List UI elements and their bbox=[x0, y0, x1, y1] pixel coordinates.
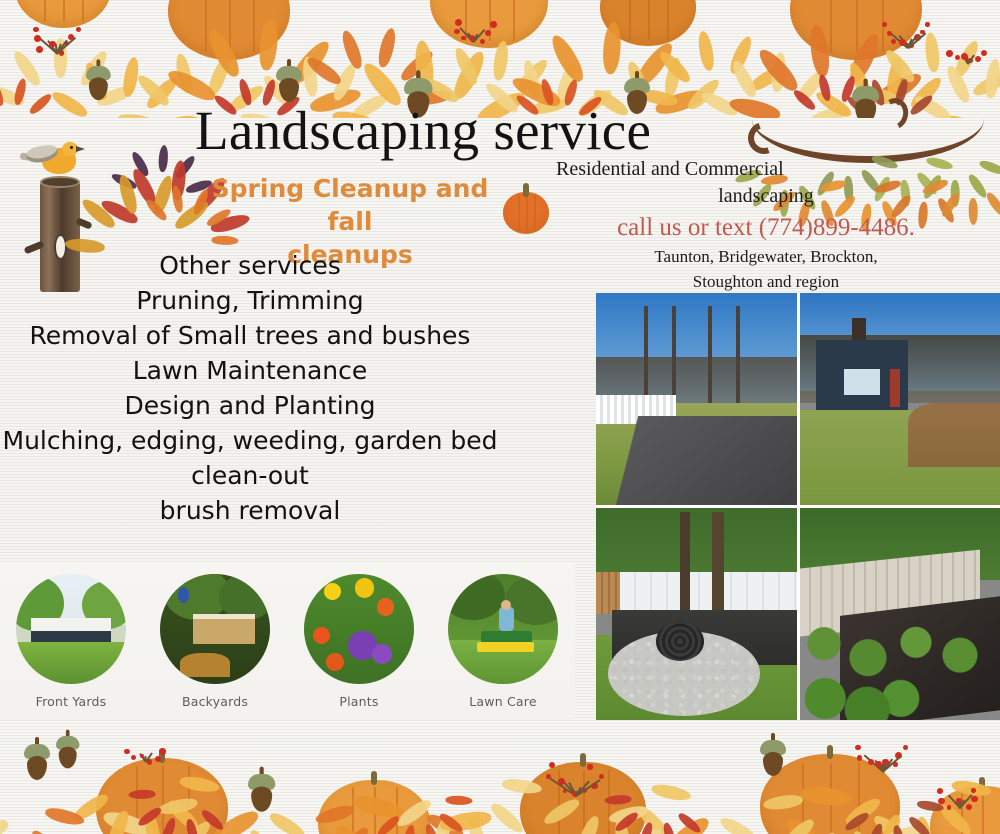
pumpkin-icon bbox=[930, 786, 1000, 834]
photo-dark-blue-house[interactable] bbox=[800, 293, 1000, 505]
service-item: Pruning, Trimming bbox=[0, 283, 500, 318]
acorn-icon bbox=[248, 774, 275, 814]
thumbnail-label: Lawn Care bbox=[448, 694, 558, 709]
acorn-icon bbox=[760, 740, 786, 778]
pumpkin-icon bbox=[760, 754, 900, 834]
pumpkin-icon bbox=[790, 0, 922, 60]
thumbnail-backyards[interactable]: Backyards bbox=[160, 574, 270, 709]
berry-sprig-icon bbox=[886, 6, 928, 48]
promo-line-1: Spring Cleanup and fall bbox=[190, 172, 510, 238]
bottom-autumn-border bbox=[0, 714, 1000, 834]
thumbnail-label: Plants bbox=[304, 694, 414, 709]
page-title: Landscaping service bbox=[195, 100, 755, 162]
service-item: Lawn Maintenance bbox=[0, 353, 500, 388]
contact-line-2: landscaping bbox=[556, 183, 976, 210]
berry-sprig-icon bbox=[128, 728, 162, 762]
acorn-icon bbox=[24, 744, 50, 782]
service-item: Mulching, edging, weeding, garden bed cl… bbox=[0, 423, 500, 493]
acorn-icon bbox=[86, 66, 111, 102]
berry-sprig-icon bbox=[34, 10, 78, 54]
contact-block: Residential and Commercial landscaping c… bbox=[556, 156, 976, 294]
thumbnail-plants[interactable]: Plants bbox=[304, 574, 414, 709]
service-item: Removal of Small trees and bushes bbox=[0, 318, 500, 353]
service-area-line-1: Taunton, Bridgewater, Brockton, bbox=[556, 244, 976, 269]
acorn-icon bbox=[56, 736, 79, 770]
photo-yard-with-white-fence-and-driveway[interactable] bbox=[596, 293, 797, 505]
photo-gravel-patio-with-fire-pit[interactable] bbox=[596, 508, 797, 720]
berry-sprig-icon bbox=[860, 728, 904, 772]
thumbnail-label: Backyards bbox=[160, 694, 270, 709]
berry-sprig-icon bbox=[452, 2, 492, 42]
pumpkin-icon bbox=[96, 758, 228, 834]
berry-sprig-icon bbox=[940, 770, 978, 808]
service-item: Design and Planting bbox=[0, 388, 500, 423]
flower-garden-photo bbox=[304, 574, 414, 684]
backyard-photo bbox=[160, 574, 270, 684]
pumpkin-icon bbox=[168, 0, 290, 60]
thumbnail-front-yards[interactable]: Front Yards bbox=[16, 574, 126, 709]
service-item: brush removal bbox=[0, 493, 500, 528]
pumpkin-icon bbox=[520, 762, 646, 834]
riding-mower-photo bbox=[448, 574, 558, 684]
phone-number[interactable]: call us or text (774)899-4486. bbox=[556, 211, 976, 244]
berry-sprig-icon bbox=[950, 30, 984, 64]
service-area-line-2: Stoughton and region bbox=[556, 269, 976, 294]
thumbnail-label: Front Yards bbox=[16, 694, 126, 709]
photo-mulched-garden-bed[interactable] bbox=[800, 508, 1000, 720]
pumpkin-icon bbox=[15, 0, 111, 28]
berry-sprig-icon bbox=[552, 750, 598, 796]
pumpkin-icon bbox=[318, 780, 430, 834]
services-list: Other services Pruning, Trimming Removal… bbox=[0, 248, 500, 528]
pumpkin-icon bbox=[503, 192, 549, 234]
pumpkin-icon bbox=[600, 0, 696, 46]
acorn-icon bbox=[852, 86, 879, 118]
pumpkin-icon bbox=[430, 0, 548, 48]
thumbnail-lawn-care[interactable]: Lawn Care bbox=[448, 574, 558, 709]
services-heading: Other services bbox=[0, 248, 500, 283]
acorn-icon bbox=[276, 66, 302, 104]
contact-line-1: Residential and Commercial bbox=[556, 156, 976, 183]
front-yard-photo bbox=[16, 574, 126, 684]
project-photo-grid bbox=[596, 293, 1000, 720]
flyer-canvas: Landscaping service Spring Cleanup and f… bbox=[0, 0, 1000, 834]
category-thumbnails: Front Yards Backyards bbox=[0, 562, 575, 720]
